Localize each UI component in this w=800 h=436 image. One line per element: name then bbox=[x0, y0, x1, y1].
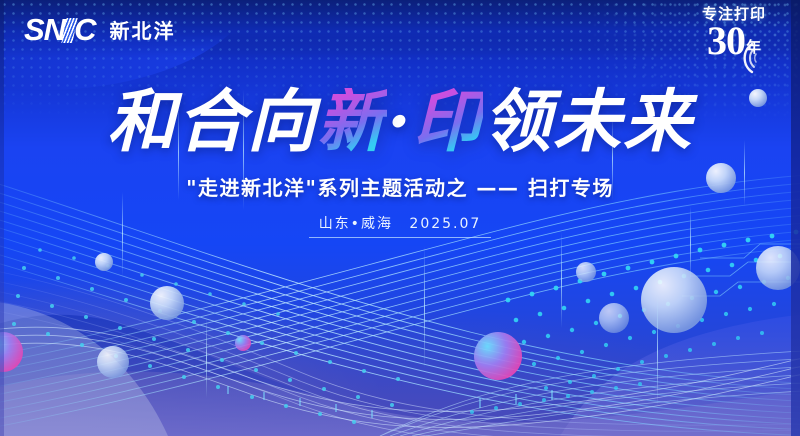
hero-title-block: 和合向新·印领未来 "走进新北洋"系列主题活动之 —— 扫打专场 山东•威海 2… bbox=[0, 88, 800, 238]
logo-text-left: SN bbox=[24, 12, 65, 47]
hero-location: 山东•威海 bbox=[319, 216, 393, 232]
title-part-3: · bbox=[387, 88, 413, 156]
title-part-2: 新 bbox=[317, 88, 387, 156]
hero-subtitle: "走进新北洋"系列主题活动之 —— 扫打专场 bbox=[0, 172, 800, 201]
brand-name-cn: 新北洋 bbox=[109, 15, 175, 44]
title-part-1: 和合向 bbox=[107, 88, 317, 156]
hero-date: 2025.07 bbox=[409, 216, 481, 232]
brand-logo: SNC 新北洋 bbox=[24, 14, 175, 45]
title-part-5: 领未来 bbox=[483, 88, 693, 156]
hero-dateline: 山东•威海 2025.07 bbox=[309, 213, 492, 238]
snbc-logo-icon: SNC bbox=[24, 14, 95, 45]
event-banner: SNC 新北洋 专注打印 30 年 和合向新·印领未来 "走进新北洋"系列主题活… bbox=[0, 0, 800, 436]
logo-text-right: C bbox=[74, 12, 95, 47]
main-title: 和合向新·印领未来 bbox=[107, 88, 693, 156]
title-part-4: 印 bbox=[413, 88, 483, 156]
anniversary-badge: 专注打印 30 年 bbox=[686, 6, 782, 80]
anniversary-arc-icon bbox=[722, 38, 762, 78]
banner-header: SNC 新北洋 bbox=[0, 0, 800, 58]
